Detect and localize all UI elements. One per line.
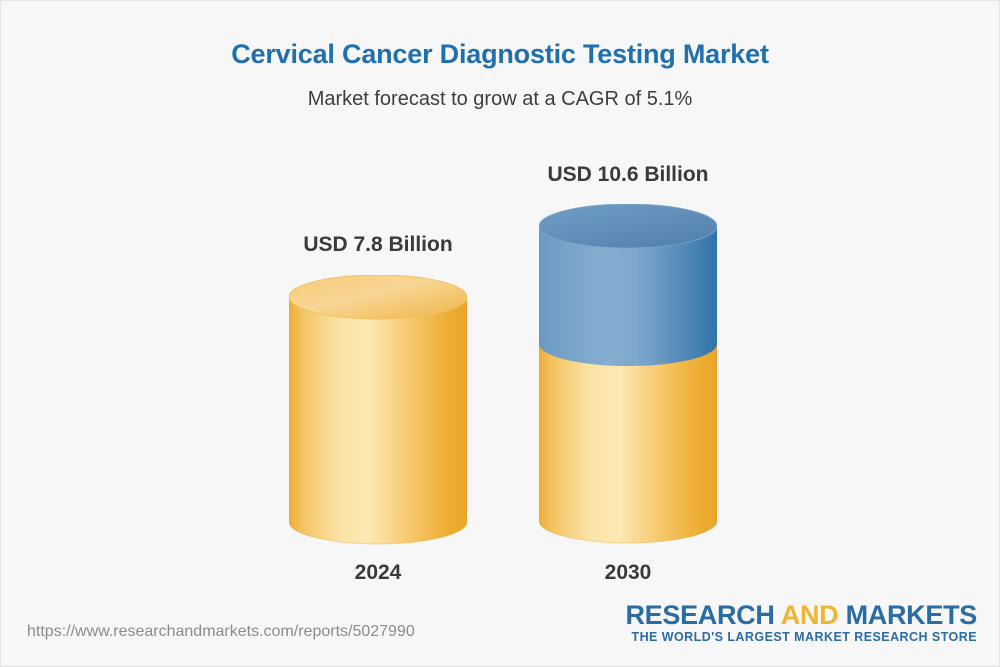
category-label-2024: 2024 <box>249 561 507 585</box>
logo-markets: MARKETS <box>846 600 977 630</box>
logo-research: RESEARCH <box>625 600 780 630</box>
cylinder-bar-2024[interactable] <box>289 275 467 545</box>
logo-wordmark: RESEARCH AND MARKETS <box>625 601 977 629</box>
source-url[interactable]: https://www.researchandmarkets.com/repor… <box>27 623 415 641</box>
logo-and: AND <box>781 600 846 630</box>
cylinder-bar-2030[interactable] <box>539 204 717 544</box>
value-label-2030: USD 10.6 Billion <box>499 163 757 187</box>
category-label-2030: 2030 <box>499 561 757 585</box>
brand-logo: RESEARCH AND MARKETS THE WORLD'S LARGEST… <box>625 601 977 646</box>
plot-area: USD 7.8 Billion <box>1 1 1000 667</box>
logo-tagline: THE WORLD'S LARGEST MARKET RESEARCH STOR… <box>625 629 977 645</box>
chart-canvas: Cervical Cancer Diagnostic Testing Marke… <box>0 0 1000 667</box>
value-label-2024: USD 7.8 Billion <box>249 233 507 257</box>
